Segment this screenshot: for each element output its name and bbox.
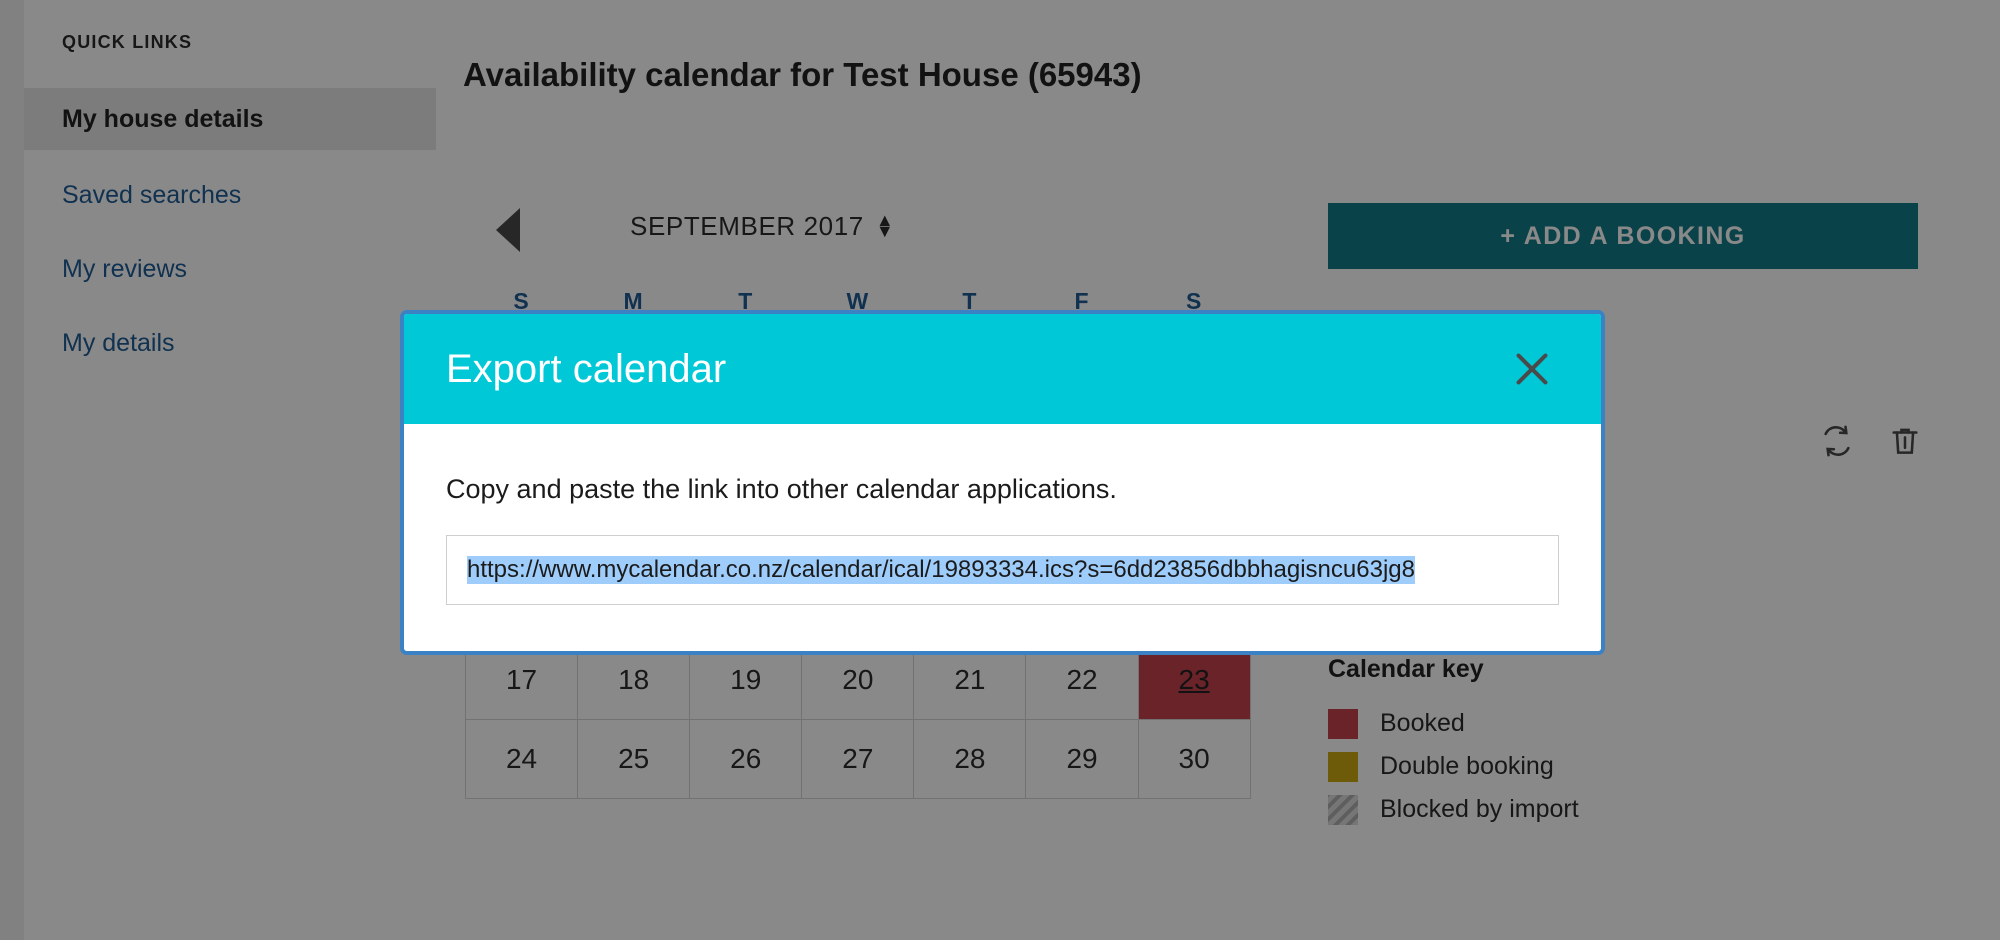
modal-title: Export calendar: [446, 347, 726, 392]
overlay-gutter: [0, 0, 24, 940]
export-calendar-modal: Export calendar Copy and paste the link …: [400, 310, 1605, 655]
modal-header: Export calendar: [404, 314, 1601, 424]
close-x-icon[interactable]: [1503, 340, 1561, 398]
export-url-input[interactable]: https://www.mycalendar.co.nz/calendar/ic…: [446, 535, 1559, 605]
export-url-value: https://www.mycalendar.co.nz/calendar/ic…: [467, 556, 1415, 584]
modal-body: Copy and paste the link into other calen…: [404, 424, 1601, 651]
screen: QUICK LINKS My house details Saved searc…: [0, 0, 2000, 940]
modal-description: Copy and paste the link into other calen…: [446, 474, 1559, 505]
